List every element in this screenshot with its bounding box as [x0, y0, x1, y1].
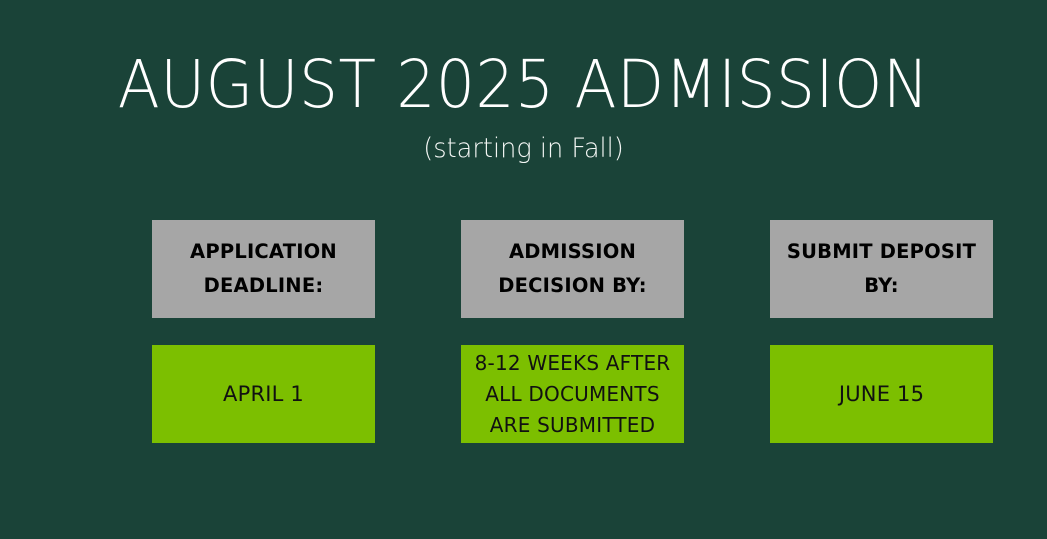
timeline-value-label: JUNE 15 — [839, 379, 924, 410]
timeline-header-label: APPLICATION DEADLINE: — [160, 235, 367, 303]
page-title: AUGUST 2025 ADMISSION — [37, 46, 1011, 124]
page-subtitle: (starting in Fall) — [26, 133, 1021, 165]
timeline-value-submit-deposit: JUNE 15 — [770, 345, 993, 443]
admission-timeline-table: APPLICATION DEADLINE: ADMISSION DECISION… — [152, 220, 993, 443]
timeline-value-label: 8-12 WEEKS AFTER ALL DOCUMENTS ARE SUBMI… — [467, 348, 678, 441]
timeline-header-label: ADMISSION DECISION BY: — [469, 235, 676, 303]
timeline-header-admission-decision: ADMISSION DECISION BY: — [461, 220, 684, 318]
timeline-header-label: SUBMIT DEPOSIT BY: — [778, 235, 985, 303]
slide-canvas: AUGUST 2025 ADMISSION (starting in Fall)… — [0, 0, 1047, 539]
timeline-value-admission-decision: 8-12 WEEKS AFTER ALL DOCUMENTS ARE SUBMI… — [461, 345, 684, 443]
timeline-value-application-deadline: APRIL 1 — [152, 345, 375, 443]
timeline-value-label: APRIL 1 — [223, 379, 304, 410]
timeline-header-application-deadline: APPLICATION DEADLINE: — [152, 220, 375, 318]
title-block: AUGUST 2025 ADMISSION (starting in Fall) — [0, 46, 1047, 165]
timeline-header-submit-deposit: SUBMIT DEPOSIT BY: — [770, 220, 993, 318]
